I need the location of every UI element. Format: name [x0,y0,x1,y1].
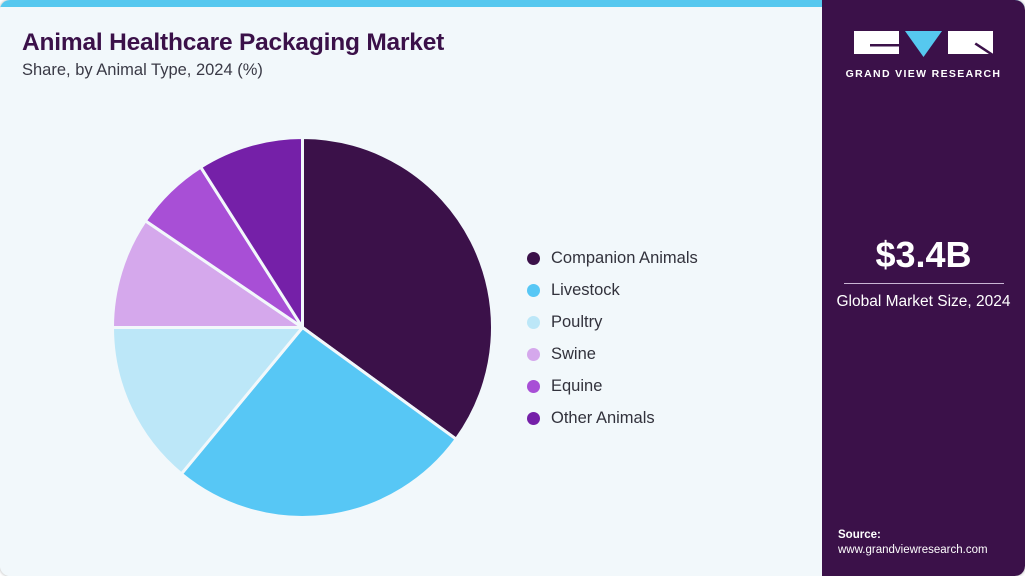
legend-item[interactable]: Equine [527,370,797,402]
legend-swatch-icon [527,380,540,393]
legend-item-label: Other Animals [551,409,655,428]
chart-legend: Companion AnimalsLivestockPoultrySwineEq… [527,242,797,434]
gvr-logo-icon [851,26,996,59]
legend-item-label: Livestock [551,281,620,300]
legend-item-label: Poultry [551,313,602,332]
brand-logo: GRAND VIEW RESEARCH [822,26,1025,80]
pie-chart-svg [110,135,495,520]
market-size-caption: Global Market Size, 2024 [834,292,1013,312]
chart-panel: Animal Healthcare Packaging Market Share… [0,7,820,576]
brand-logo-text: GRAND VIEW RESEARCH [822,68,1025,80]
page-title: Animal Healthcare Packaging Market [22,29,444,57]
legend-swatch-icon [527,252,540,265]
infographic-card: Animal Healthcare Packaging Market Share… [0,0,1025,576]
legend-item-label: Equine [551,377,602,396]
pie-slice-group [113,138,493,518]
legend-swatch-icon [527,284,540,297]
source-block: Source: www.grandviewresearch.com [838,528,1023,559]
legend-item[interactable]: Poultry [527,306,797,338]
source-url[interactable]: www.grandviewresearch.com [838,543,1023,559]
legend-swatch-icon [527,412,540,425]
legend-item[interactable]: Companion Animals [527,242,797,274]
market-size-value: $3.4B [834,236,1013,274]
legend-swatch-icon [527,348,540,361]
source-label: Source: [838,528,1023,544]
legend-item[interactable]: Swine [527,338,797,370]
legend-item[interactable]: Other Animals [527,402,797,434]
legend-item-label: Companion Animals [551,249,698,268]
legend-swatch-icon [527,316,540,329]
legend-item-label: Swine [551,345,596,364]
page-subtitle: Share, by Animal Type, 2024 (%) [22,61,263,80]
stat-divider [844,283,1004,284]
brand-panel: GRAND VIEW RESEARCH $3.4B Global Market … [822,0,1025,576]
legend-item[interactable]: Livestock [527,274,797,306]
market-size-stat: $3.4B Global Market Size, 2024 [834,236,1013,312]
pie-chart [110,135,495,520]
